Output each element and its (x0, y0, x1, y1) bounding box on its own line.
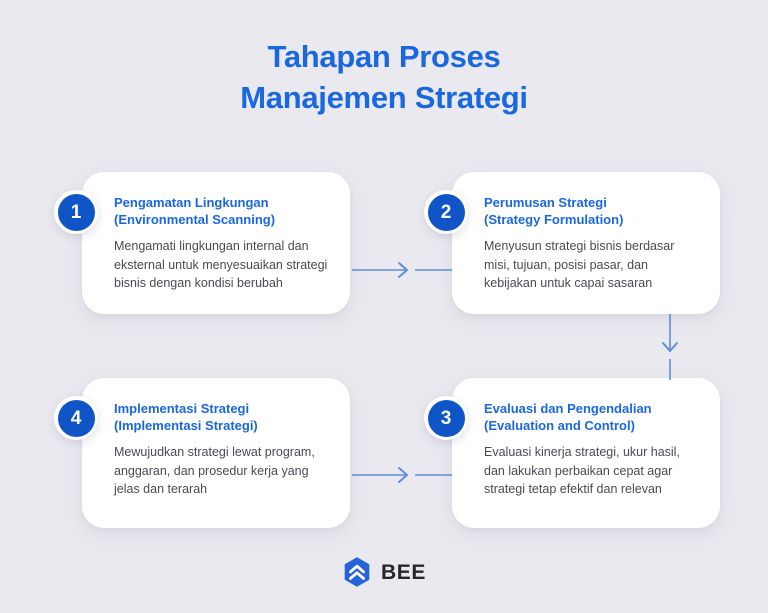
page-title: Tahapan Proses Manajemen Strategi (0, 36, 768, 118)
footer-logo: BEE (0, 556, 768, 588)
step-badge-4-number: 4 (58, 400, 95, 437)
connector-arrow-down-right (656, 314, 684, 380)
step-card-3-heading-line-1: Evaluasi dan Pengendalian (484, 400, 698, 417)
step-card-2-heading-line-1: Perumusan Strategi (484, 194, 698, 211)
step-badge-2: 2 (424, 190, 468, 234)
step-card-4-description: Mewujudkan strategi lewat program, angga… (114, 443, 328, 499)
step-card-4-heading-line-2: (Implementasi Strategi) (114, 417, 328, 434)
brand-wordmark: BEE (381, 562, 426, 583)
step-card-4-heading-line-1: Implementasi Strategi (114, 400, 328, 417)
step-card-2: Perumusan Strategi (Strategy Formulation… (452, 172, 720, 314)
step-badge-2-number: 2 (428, 194, 465, 231)
infographic-canvas: Tahapan Proses Manajemen Strategi Pengam… (0, 0, 768, 613)
step-card-3-heading: Evaluasi dan Pengendalian (Evaluation an… (484, 400, 698, 434)
arrow-right-icon (352, 256, 452, 284)
step-card-3-heading-line-2: (Evaluation and Control) (484, 417, 698, 434)
step-card-1-heading-line-1: Pengamatan Lingkungan (114, 194, 328, 211)
step-card-3: Evaluasi dan Pengendalian (Evaluation an… (452, 378, 720, 528)
step-card-4: Implementasi Strategi (Implementasi Stra… (82, 378, 350, 528)
arrow-down-icon (656, 314, 684, 380)
step-card-4-heading: Implementasi Strategi (Implementasi Stra… (114, 400, 328, 434)
step-card-1-heading-line-2: (Environmental Scanning) (114, 211, 328, 228)
step-card-1-description: Mengamati lingkungan internal dan ekster… (114, 237, 328, 293)
step-card-2-heading: Perumusan Strategi (Strategy Formulation… (484, 194, 698, 228)
step-card-1-heading: Pengamatan Lingkungan (Environmental Sca… (114, 194, 328, 228)
step-card-4-body: Implementasi Strategi (Implementasi Stra… (82, 378, 350, 513)
bee-hexagon-chevron-icon (342, 556, 372, 588)
title-line-2: Manajemen Strategi (0, 77, 768, 118)
step-badge-3-number: 3 (428, 400, 465, 437)
arrow-right-icon (352, 461, 452, 489)
step-card-3-description: Evaluasi kinerja strategi, ukur hasil, d… (484, 443, 698, 499)
step-badge-1: 1 (54, 190, 98, 234)
step-card-1: Pengamatan Lingkungan (Environmental Sca… (82, 172, 350, 314)
title-line-1: Tahapan Proses (0, 36, 768, 77)
connector-arrow-right-bottom (352, 461, 452, 489)
step-card-2-body: Perumusan Strategi (Strategy Formulation… (452, 172, 720, 307)
step-badge-1-number: 1 (58, 194, 95, 231)
step-card-1-body: Pengamatan Lingkungan (Environmental Sca… (82, 172, 350, 307)
step-badge-4: 4 (54, 396, 98, 440)
step-card-2-heading-line-2: (Strategy Formulation) (484, 211, 698, 228)
step-card-3-body: Evaluasi dan Pengendalian (Evaluation an… (452, 378, 720, 513)
step-badge-3: 3 (424, 396, 468, 440)
connector-arrow-right-top (352, 256, 452, 284)
step-card-2-description: Menyusun strategi bisnis berdasar misi, … (484, 237, 698, 293)
